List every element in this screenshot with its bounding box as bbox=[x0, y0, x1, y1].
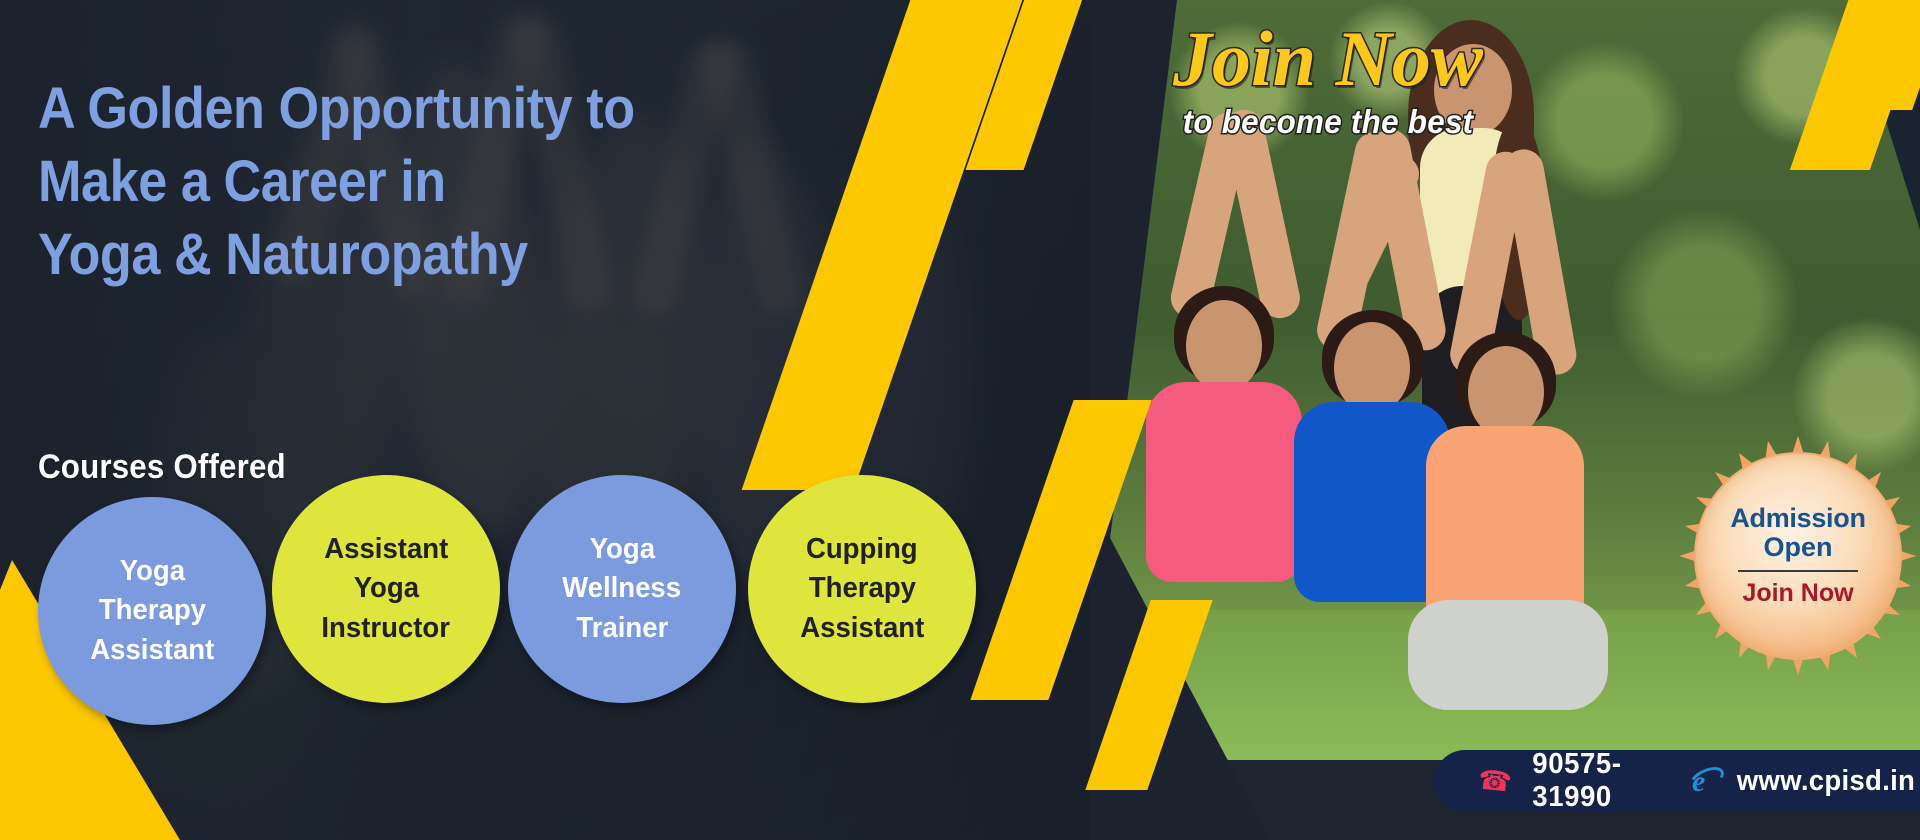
course-circle-yoga-therapy-assistant[interactable]: Yoga Therapy Assistant bbox=[38, 497, 266, 725]
course-circle-yoga-wellness-trainer[interactable]: Yoga Wellness Trainer bbox=[508, 475, 736, 703]
join-now-heading: Join Now to become the best bbox=[1128, 22, 1528, 141]
course-line-3: Assistant bbox=[800, 609, 924, 648]
headline-line-1: A Golden Opportunity to bbox=[38, 72, 722, 145]
admission-open-badge[interactable]: Admission Open Join Now bbox=[1676, 434, 1920, 678]
course-circle-assistant-yoga-instructor[interactable]: Assistant Yoga Instructor bbox=[272, 475, 500, 703]
course-circle-cupping-therapy-assistant[interactable]: Cupping Therapy Assistant bbox=[748, 475, 976, 703]
course-line-2: Therapy bbox=[808, 569, 915, 608]
course-line-3: Instructor bbox=[322, 609, 451, 648]
admission-badge-cta[interactable]: Join Now bbox=[1742, 579, 1853, 608]
courses-offered-label: Courses Offered bbox=[38, 448, 286, 487]
course-line-2: Therapy bbox=[98, 591, 205, 630]
course-line-1: Yoga bbox=[589, 530, 654, 569]
course-line-3: Trainer bbox=[576, 609, 668, 648]
headline-line-3: Yoga & Naturopathy bbox=[38, 218, 722, 291]
website-url[interactable]: www.cpisd.in bbox=[1737, 765, 1915, 798]
course-line-3: Assistant bbox=[90, 631, 214, 670]
course-circle-list: Yoga Therapy Assistant Assistant Yoga In… bbox=[0, 497, 1040, 827]
course-line-2: Yoga bbox=[353, 569, 418, 608]
join-now-subtitle: to become the best bbox=[1138, 103, 1518, 141]
course-line-1: Yoga bbox=[119, 552, 184, 591]
admission-badge-core: Admission Open Join Now bbox=[1696, 454, 1900, 658]
admission-badge-line-2: Open bbox=[1763, 533, 1832, 561]
banner-headline: A Golden Opportunity to Make a Career in… bbox=[38, 72, 722, 291]
join-now-title: Join Now bbox=[1128, 22, 1528, 97]
admission-badge-line-1: Admission bbox=[1730, 504, 1865, 532]
admission-badge-divider bbox=[1738, 570, 1858, 572]
internet-explorer-icon: e bbox=[1692, 766, 1715, 797]
yoga-naturopathy-course-banner: A Golden Opportunity to Make a Career in… bbox=[0, 0, 1920, 840]
phone-number[interactable]: 90575-31990 bbox=[1532, 748, 1658, 814]
phone-icon: ☎ bbox=[1477, 766, 1513, 796]
headline-line-2: Make a Career in bbox=[38, 145, 722, 218]
course-line-1: Cupping bbox=[806, 530, 918, 569]
course-line-1: Assistant bbox=[324, 530, 448, 569]
course-line-2: Wellness bbox=[563, 569, 682, 608]
contact-bar: ☎ 90575-31990 e www.cpisd.in bbox=[1434, 750, 1920, 812]
